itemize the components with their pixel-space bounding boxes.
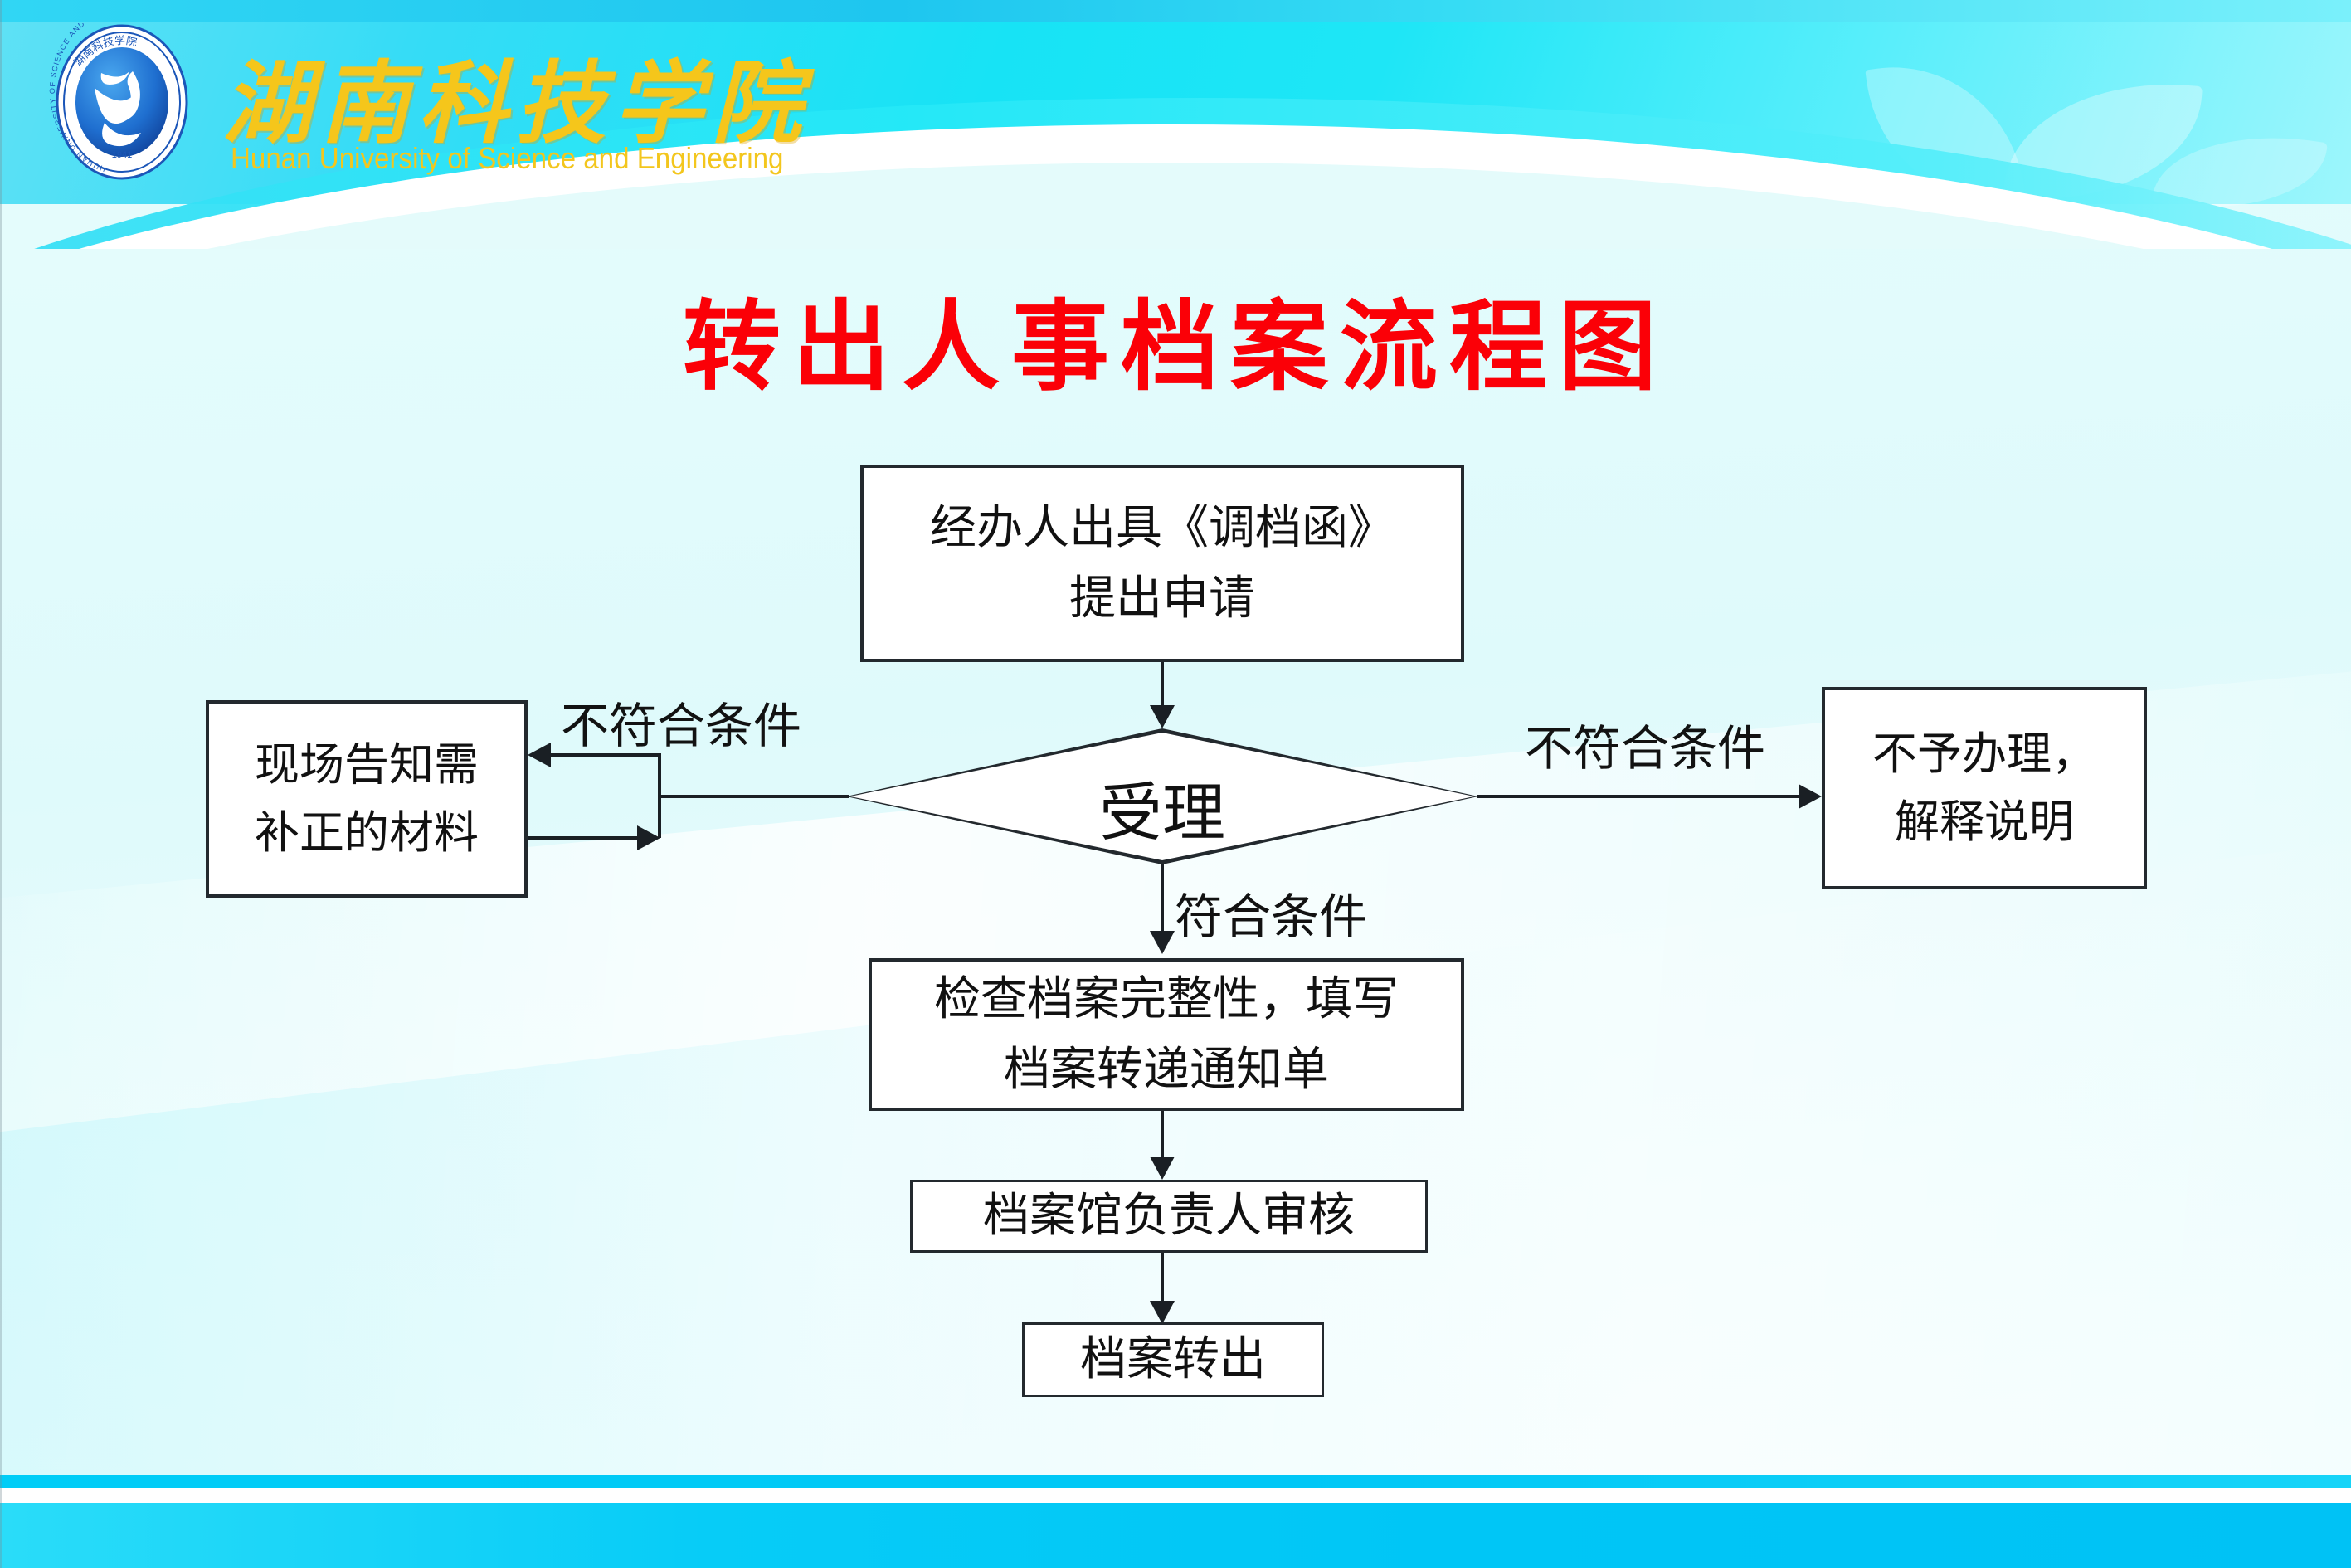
flow-node-reject-line-2: 解释说明 [1895, 788, 2074, 856]
connector-riser-to-notify [549, 753, 660, 757]
flowchart: 经办人出具《调档函》 提出申请 受理 不符合条件 现场告知需 补正的材料 不符合… [0, 0, 2351, 1568]
connector-check-to-review [1161, 1111, 1164, 1159]
slide-left-edge-rule [0, 0, 2, 1568]
connector-review-to-transfer [1161, 1253, 1164, 1304]
edge-label-right-branch: 不符合条件 [1525, 709, 1765, 779]
arrowhead-to-transfer [1150, 1301, 1175, 1324]
footer-white-gap [0, 1488, 2351, 1503]
footer-thin-bar [0, 1475, 2351, 1488]
connector-accept-to-reject [1477, 795, 1800, 798]
flow-node-apply-line-2: 提出申请 [1069, 563, 1255, 634]
connector-apply-to-accept [1161, 662, 1164, 707]
arrowhead-to-notify [528, 743, 551, 767]
arrowhead-apply-to-accept [1150, 705, 1175, 728]
arrowhead-to-check [1150, 931, 1175, 954]
connector-accept-to-riser [660, 795, 849, 798]
flow-node-check-line-2: 档案转递通知单 [1004, 1035, 1329, 1105]
flow-node-notify-line-1: 现场告知需 [255, 731, 479, 799]
flow-node-check-line-1: 检查档案完整性，填写 [934, 964, 1399, 1035]
flow-node-reject[interactable]: 不予办理， 解释说明 [1822, 687, 2147, 889]
arrowhead-to-review [1150, 1157, 1175, 1180]
flow-node-apply-line-1: 经办人出具《调档函》 [930, 493, 1395, 563]
flow-node-transfer[interactable]: 档案转出 [1022, 1322, 1324, 1397]
flow-node-accept-label: 受理 [846, 762, 1478, 853]
edge-label-left-branch: 不符合条件 [561, 687, 801, 757]
flow-node-apply[interactable]: 经办人出具《调档函》 提出申请 [860, 465, 1464, 662]
flow-node-reject-line-1: 不予办理， [1872, 720, 2096, 788]
flow-node-review-label: 档案馆负责人审核 [983, 1181, 1355, 1251]
connector-accept-to-check [1161, 864, 1164, 933]
flow-node-notify-line-2: 补正的材料 [255, 799, 479, 867]
flow-node-notify[interactable]: 现场告知需 补正的材料 [206, 700, 528, 898]
arrowhead-to-reject [1799, 784, 1822, 809]
edge-label-down-branch: 符合条件 [1175, 878, 1367, 947]
arrowhead-to-riser [637, 825, 660, 850]
flow-node-review[interactable]: 档案馆负责人审核 [910, 1180, 1428, 1253]
slide-canvas: 1941 · HUNAN UNIVERSITY OF SCIENCE AND E… [0, 0, 2351, 1568]
footer-thick-bar [0, 1503, 2351, 1568]
flow-node-check[interactable]: 检查档案完整性，填写 档案转递通知单 [869, 958, 1464, 1111]
connector-notify-to-riser [528, 836, 637, 840]
flow-node-transfer-label: 档案转出 [1080, 1324, 1266, 1395]
